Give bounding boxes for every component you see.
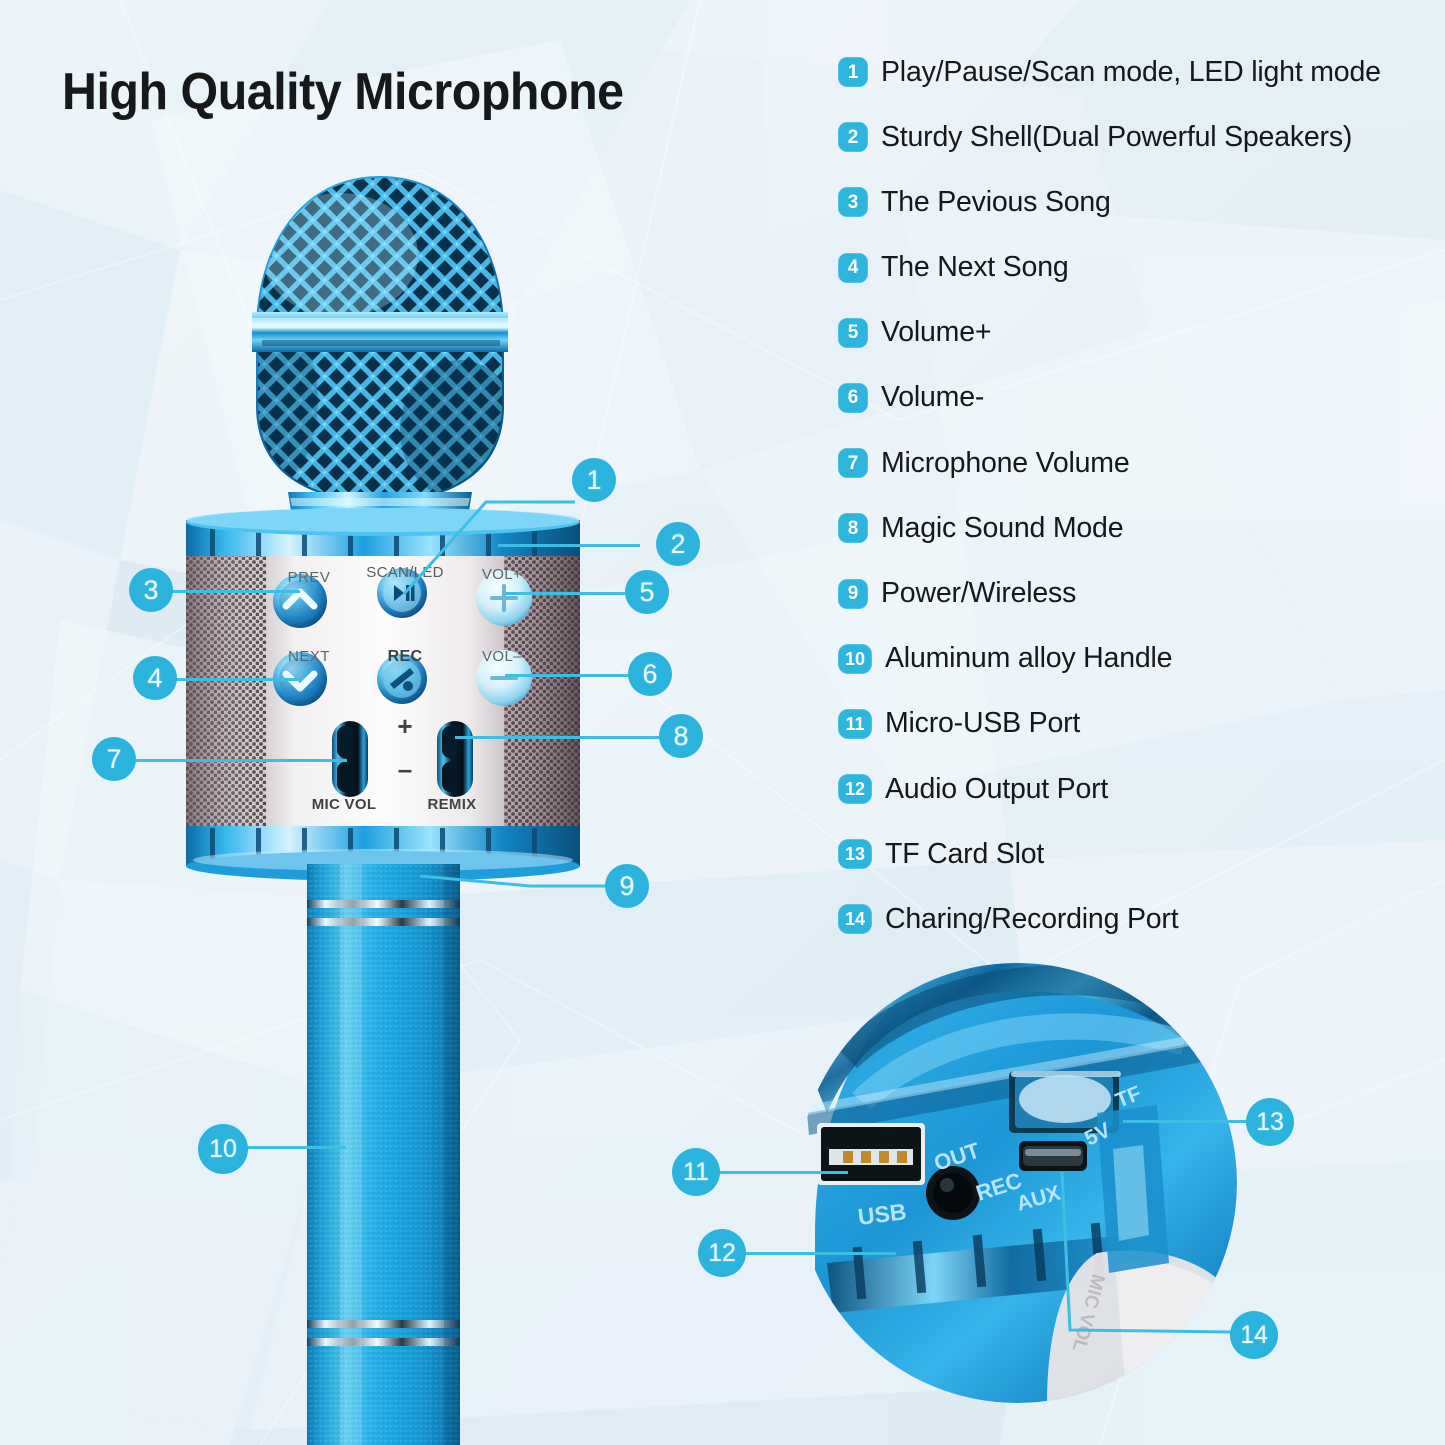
feature-label-5: Volume+	[881, 316, 991, 349]
list-item: 8 Magic Sound Mode	[838, 502, 1438, 554]
list-item: 14 Charing/Recording Port	[838, 893, 1438, 945]
leader-line-2	[498, 544, 640, 547]
leader-line-4	[176, 678, 300, 681]
feature-badge-11: 11	[838, 709, 872, 739]
feature-label-6: Volume-	[881, 381, 984, 414]
prev-label: PREV	[274, 569, 344, 586]
feature-badge-1: 1	[838, 57, 868, 87]
callout-10-handle[interactable]: 10	[198, 1124, 248, 1174]
feature-badge-7: 7	[838, 448, 868, 478]
feature-label-9: Power/Wireless	[881, 577, 1076, 610]
feature-label-3: The Pevious Song	[881, 186, 1111, 219]
feature-label-7: Microphone Volume	[881, 447, 1130, 480]
list-item: 4 The Next Song	[838, 242, 1438, 294]
leader-line-10	[246, 1146, 346, 1149]
infographic-canvas: High Quality Microphone	[0, 0, 1445, 1445]
feature-badge-6: 6	[838, 383, 868, 413]
list-item: 7 Microphone Volume	[838, 437, 1438, 489]
list-item: 2 Sturdy Shell(Dual Powerful Speakers)	[838, 111, 1438, 163]
leader-line-9	[420, 862, 630, 906]
feature-badge-4: 4	[838, 253, 868, 283]
leader-line-6	[505, 674, 630, 677]
callout-6-volume-down[interactable]: 6	[628, 652, 672, 696]
feature-label-11: Micro-USB Port	[885, 707, 1080, 740]
feature-badge-8: 8	[838, 513, 868, 543]
feature-label-14: Charing/Recording Port	[885, 903, 1178, 936]
callout-11-usb-port[interactable]: 11	[672, 1148, 720, 1196]
feature-badge-10: 10	[838, 644, 872, 674]
callout-8-remix[interactable]: 8	[659, 714, 703, 758]
feature-label-12: Audio Output Port	[885, 773, 1108, 806]
list-item: 3 The Pevious Song	[838, 176, 1438, 228]
callout-1-scan-led[interactable]: 1	[572, 458, 616, 502]
feature-badge-3: 3	[838, 187, 868, 217]
remix-label: REMIX	[406, 796, 498, 813]
remix-plus-symbol: +	[388, 713, 422, 739]
callout-5-volume-up[interactable]: 5	[625, 570, 669, 614]
feature-label-1: Play/Pause/Scan mode, LED light mode	[881, 56, 1381, 89]
feature-label-10: Aluminum alloy Handle	[885, 642, 1172, 675]
callout-4-next[interactable]: 4	[133, 656, 177, 700]
feature-label-2: Sturdy Shell(Dual Powerful Speakers)	[881, 121, 1352, 154]
list-item: 10 Aluminum alloy Handle	[838, 633, 1438, 685]
feature-label-4: The Next Song	[881, 251, 1069, 284]
callout-14-charging-port[interactable]: 14	[1230, 1311, 1278, 1359]
callout-7-mic-volume[interactable]: 7	[92, 737, 136, 781]
list-item: 6 Volume-	[838, 372, 1438, 424]
mic-vol-label: MIC VOL	[294, 796, 394, 813]
feature-badge-5: 5	[838, 318, 868, 348]
callout-3-prev[interactable]: 3	[129, 568, 173, 612]
vol-down-label: VOL–	[466, 648, 538, 665]
callout-9-power-wireless[interactable]: 9	[605, 864, 649, 908]
leader-line-12	[744, 1252, 896, 1255]
remix-minus-symbol: –	[388, 756, 422, 782]
feature-badge-2: 2	[838, 122, 868, 152]
page-title: High Quality Microphone	[62, 62, 624, 122]
leader-line-5	[505, 592, 628, 595]
feature-badge-14: 14	[838, 904, 872, 934]
feature-badge-13: 13	[838, 839, 872, 869]
feature-label-13: TF Card Slot	[885, 838, 1044, 871]
list-item: 9 Power/Wireless	[838, 568, 1438, 620]
list-item: 12 Audio Output Port	[838, 763, 1438, 815]
list-item: 1 Play/Pause/Scan mode, LED light mode	[838, 46, 1438, 98]
feature-badge-12: 12	[838, 774, 872, 804]
feature-badge-9: 9	[838, 579, 868, 609]
leader-line-14	[1060, 1170, 1240, 1350]
list-item: 11 Micro-USB Port	[838, 698, 1438, 750]
leader-line-7	[135, 759, 347, 762]
leader-line-13	[1123, 1120, 1249, 1123]
list-item: 13 TF Card Slot	[838, 828, 1438, 880]
next-label: NEXT	[274, 648, 344, 665]
callout-12-audio-out[interactable]: 12	[698, 1229, 746, 1277]
list-item: 5 Volume+	[838, 307, 1438, 359]
leader-line-8	[455, 736, 662, 739]
feature-label-8: Magic Sound Mode	[881, 512, 1123, 545]
callout-13-tf-slot[interactable]: 13	[1246, 1098, 1294, 1146]
leader-line-3	[172, 590, 300, 593]
feature-list: 1 Play/Pause/Scan mode, LED light mode 2…	[838, 46, 1438, 959]
leader-line-11	[718, 1171, 848, 1174]
rec-label: REC	[370, 648, 440, 666]
callout-2-shell-speakers[interactable]: 2	[656, 522, 700, 566]
